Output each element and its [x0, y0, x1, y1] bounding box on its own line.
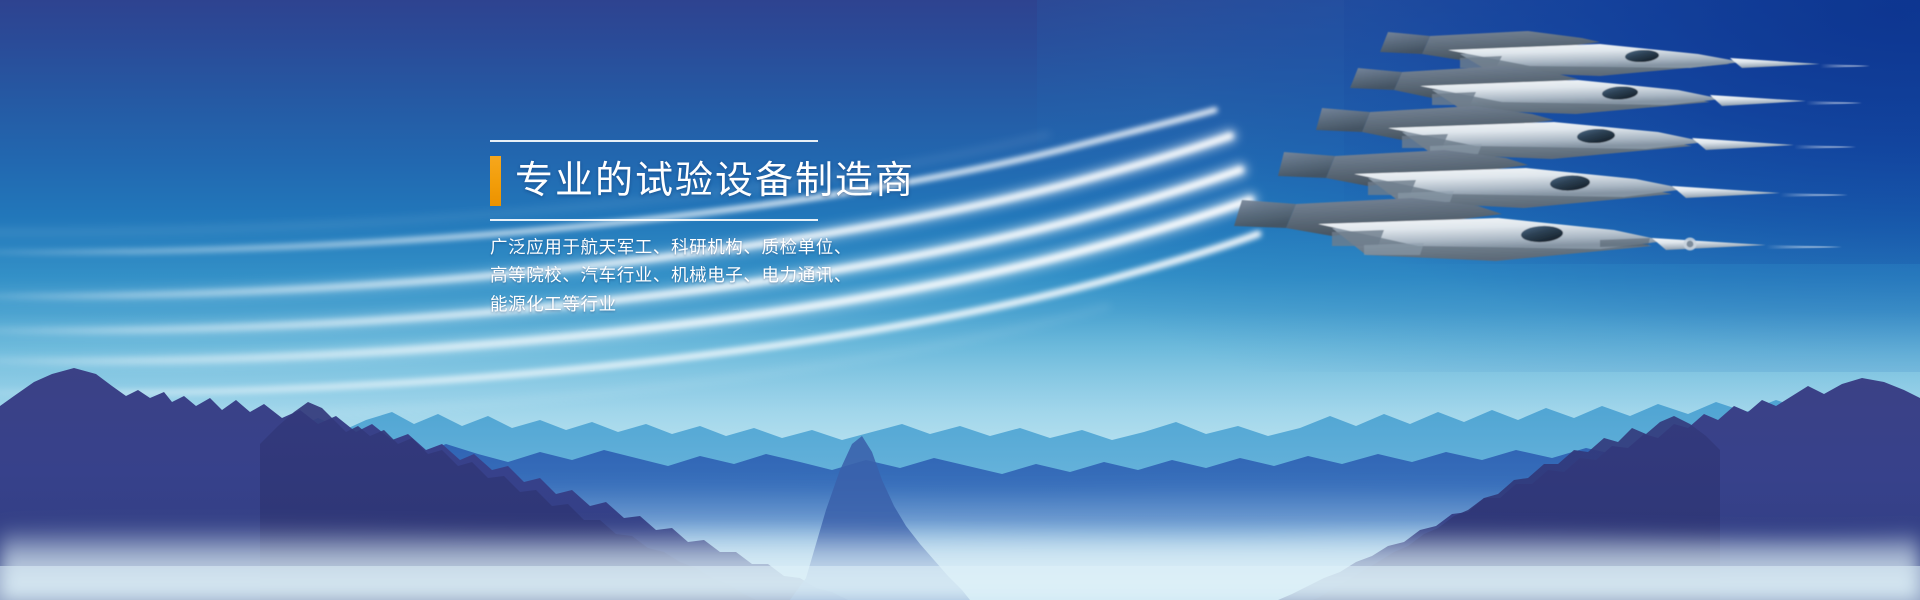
subtitle-line-3: 能源化工等行业 — [490, 290, 960, 318]
mist-bottom-wash — [0, 566, 1920, 600]
fighter-jet-3 — [1316, 106, 1856, 159]
hero-copy-block: 专业的试验设备制造商 广泛应用于航天军工、科研机构、质检单位、 高等院校、汽车行… — [490, 140, 960, 318]
fighter-jet-4 — [1278, 150, 1848, 208]
rule-bottom — [490, 219, 818, 221]
fighter-jet-formation-icon — [1130, 28, 1870, 278]
subtitle-block: 广泛应用于航天军工、科研机构、质检单位、 高等院校、汽车行业、机械电子、电力通讯… — [490, 233, 960, 318]
subtitle-line-2: 高等院校、汽车行业、机械电子、电力通讯、 — [490, 261, 960, 289]
accent-bar-icon — [490, 156, 501, 206]
subtitle-line-1: 广泛应用于航天军工、科研机构、质检单位、 — [490, 233, 960, 261]
page-title: 专业的试验设备制造商 — [515, 162, 915, 200]
headline-row: 专业的试验设备制造商 — [490, 148, 960, 214]
mountain-range-silhouette — [0, 340, 1920, 600]
hero-banner: 专业的试验设备制造商 广泛应用于航天军工、科研机构、质检单位、 高等院校、汽车行… — [0, 0, 1920, 600]
fighter-jet-5 — [1234, 198, 1842, 261]
rule-top — [490, 140, 818, 142]
